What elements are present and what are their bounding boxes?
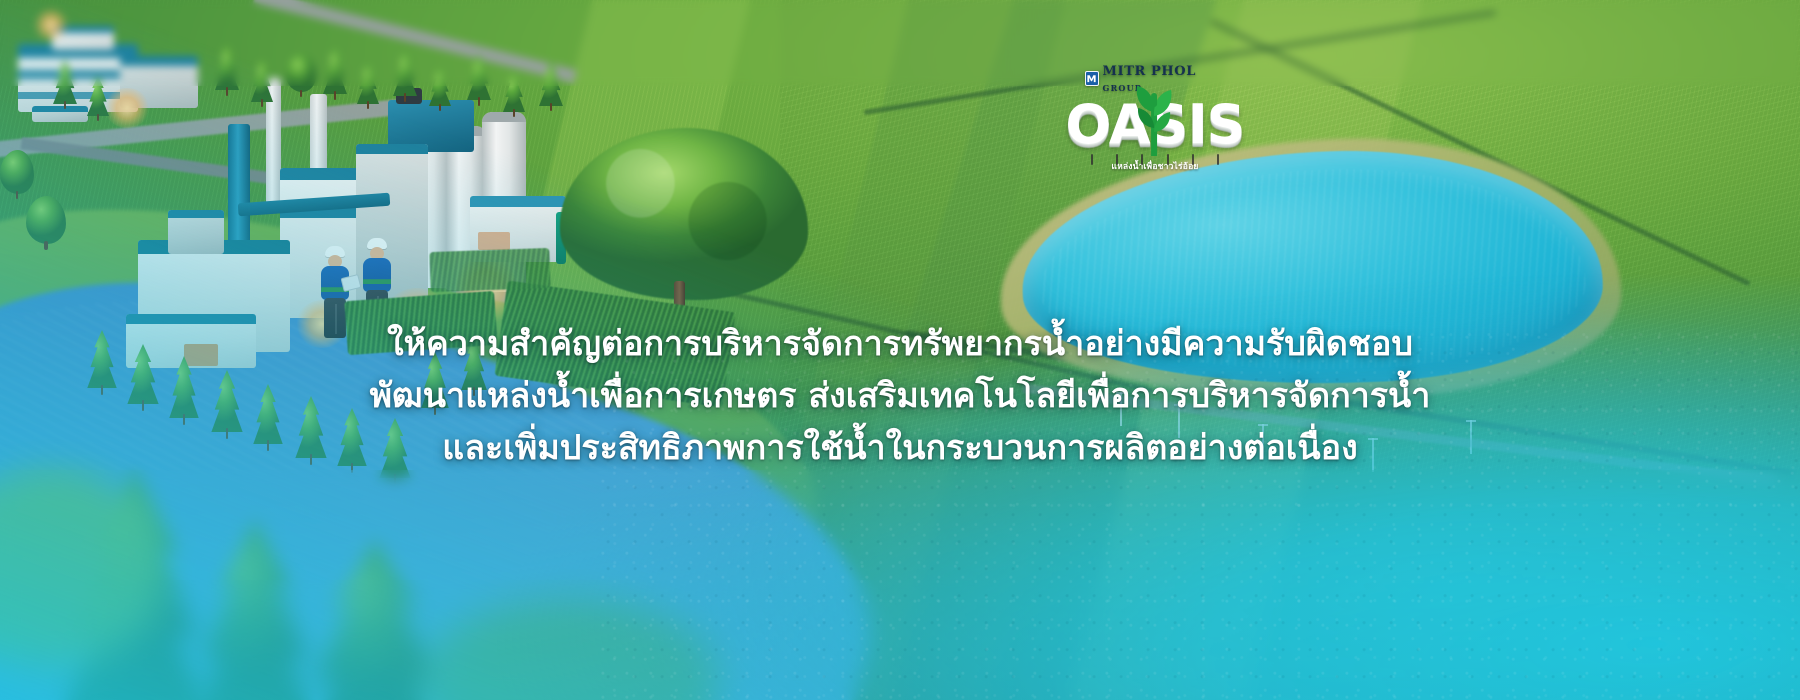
headline-block: ให้ความสำคัญต่อการบริหารจัดการทรัพยากรน้…	[0, 318, 1800, 474]
tree	[392, 50, 418, 96]
oasis-wordmark-left: OAS	[1065, 96, 1187, 154]
mitr-phol-text: MITR PHOL GROUP	[1103, 62, 1225, 94]
tree	[502, 70, 526, 112]
office-penthouse	[52, 26, 114, 50]
logo-sign-posts	[1091, 154, 1219, 166]
tree	[538, 62, 564, 106]
mitr-phol-badge-icon	[1085, 71, 1099, 86]
tree	[52, 60, 78, 104]
oasis-wordmark-right: S	[1207, 96, 1245, 154]
roof-trim	[168, 210, 224, 218]
roof-trim	[470, 196, 566, 207]
tree-canopy	[560, 128, 808, 300]
hall-rooftop-block	[168, 210, 224, 254]
headline-line-2: พัฒนาแหล่งน้ำเพื่อการเกษตร ส่งเสริมเทคโน…	[60, 370, 1740, 422]
tree	[428, 66, 452, 106]
roof-trim	[356, 144, 428, 154]
oasis-logo[interactable]: MITR PHOL GROUP OAS I S แหล่งน้ำเพื่อชาว…	[1085, 62, 1225, 174]
door	[478, 232, 510, 250]
sugarcane-field	[429, 248, 550, 292]
mitr-phol-group: GROUP	[1103, 83, 1142, 93]
oasis-wordmark-spacer: I	[1188, 96, 1207, 154]
roof-trim	[120, 56, 198, 66]
oasis-wordmark: OAS I S	[1085, 96, 1225, 158]
tree	[250, 58, 274, 102]
roof-trim	[52, 26, 114, 33]
tree	[466, 54, 492, 100]
tree	[26, 196, 66, 244]
tree	[86, 76, 110, 116]
tree	[356, 62, 380, 104]
mitr-phol-lockup: MITR PHOL GROUP	[1085, 62, 1225, 94]
worker-uniform	[363, 258, 391, 292]
mitr-phol-name: MITR PHOL	[1103, 64, 1196, 79]
tree	[214, 44, 240, 90]
office-canopy	[32, 106, 88, 122]
headline-line-3: และเพิ่มประสิทธิภาพการใช้น้ำในกระบวนการผ…	[60, 422, 1740, 474]
tree	[322, 46, 348, 94]
roof-trim	[32, 106, 88, 112]
headline-line-1: ให้ความสำคัญต่อการบริหารจัดการทรัพยากรน้…	[60, 318, 1740, 370]
tree	[286, 54, 316, 92]
oasis-hero-banner: MITR PHOL GROUP OAS I S แหล่งน้ำเพื่อชาว…	[0, 0, 1800, 700]
tree	[0, 150, 34, 194]
